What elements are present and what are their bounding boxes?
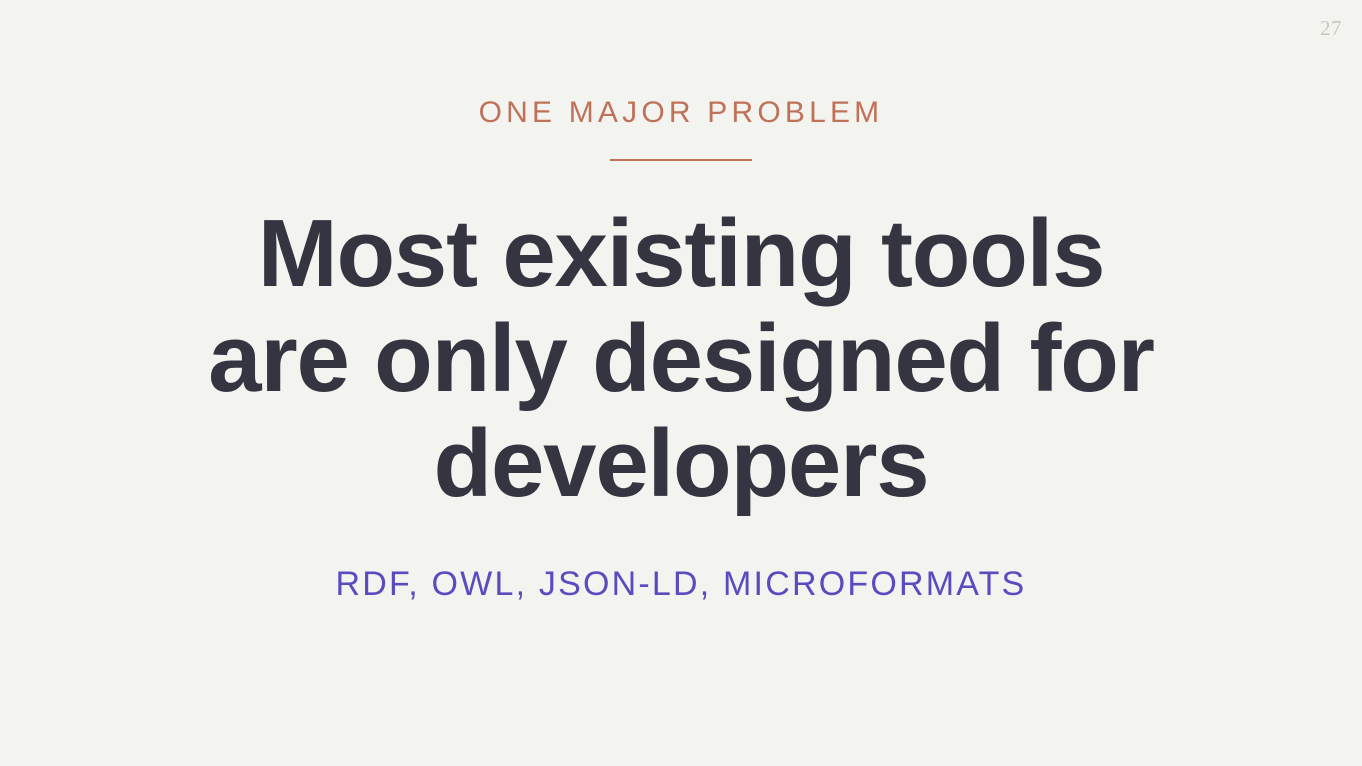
- headline-line-1: Most existing tools: [208, 201, 1154, 306]
- headline-line-3: developers: [208, 411, 1154, 516]
- slide-eyebrow-label: ONE MAJOR PROBLEM: [479, 96, 884, 129]
- headline-line-2: are only designed for: [208, 306, 1154, 411]
- slide-headline: Most existing tools are only designed fo…: [208, 201, 1154, 516]
- presentation-slide: 27 ONE MAJOR PROBLEM Most existing tools…: [0, 0, 1362, 766]
- slide-subheadline: RDF, OWL, JSON-LD, MICROFORMATS: [336, 564, 1027, 605]
- slide-content: ONE MAJOR PROBLEM Most existing tools ar…: [0, 0, 1362, 766]
- eyebrow-divider: [610, 159, 752, 161]
